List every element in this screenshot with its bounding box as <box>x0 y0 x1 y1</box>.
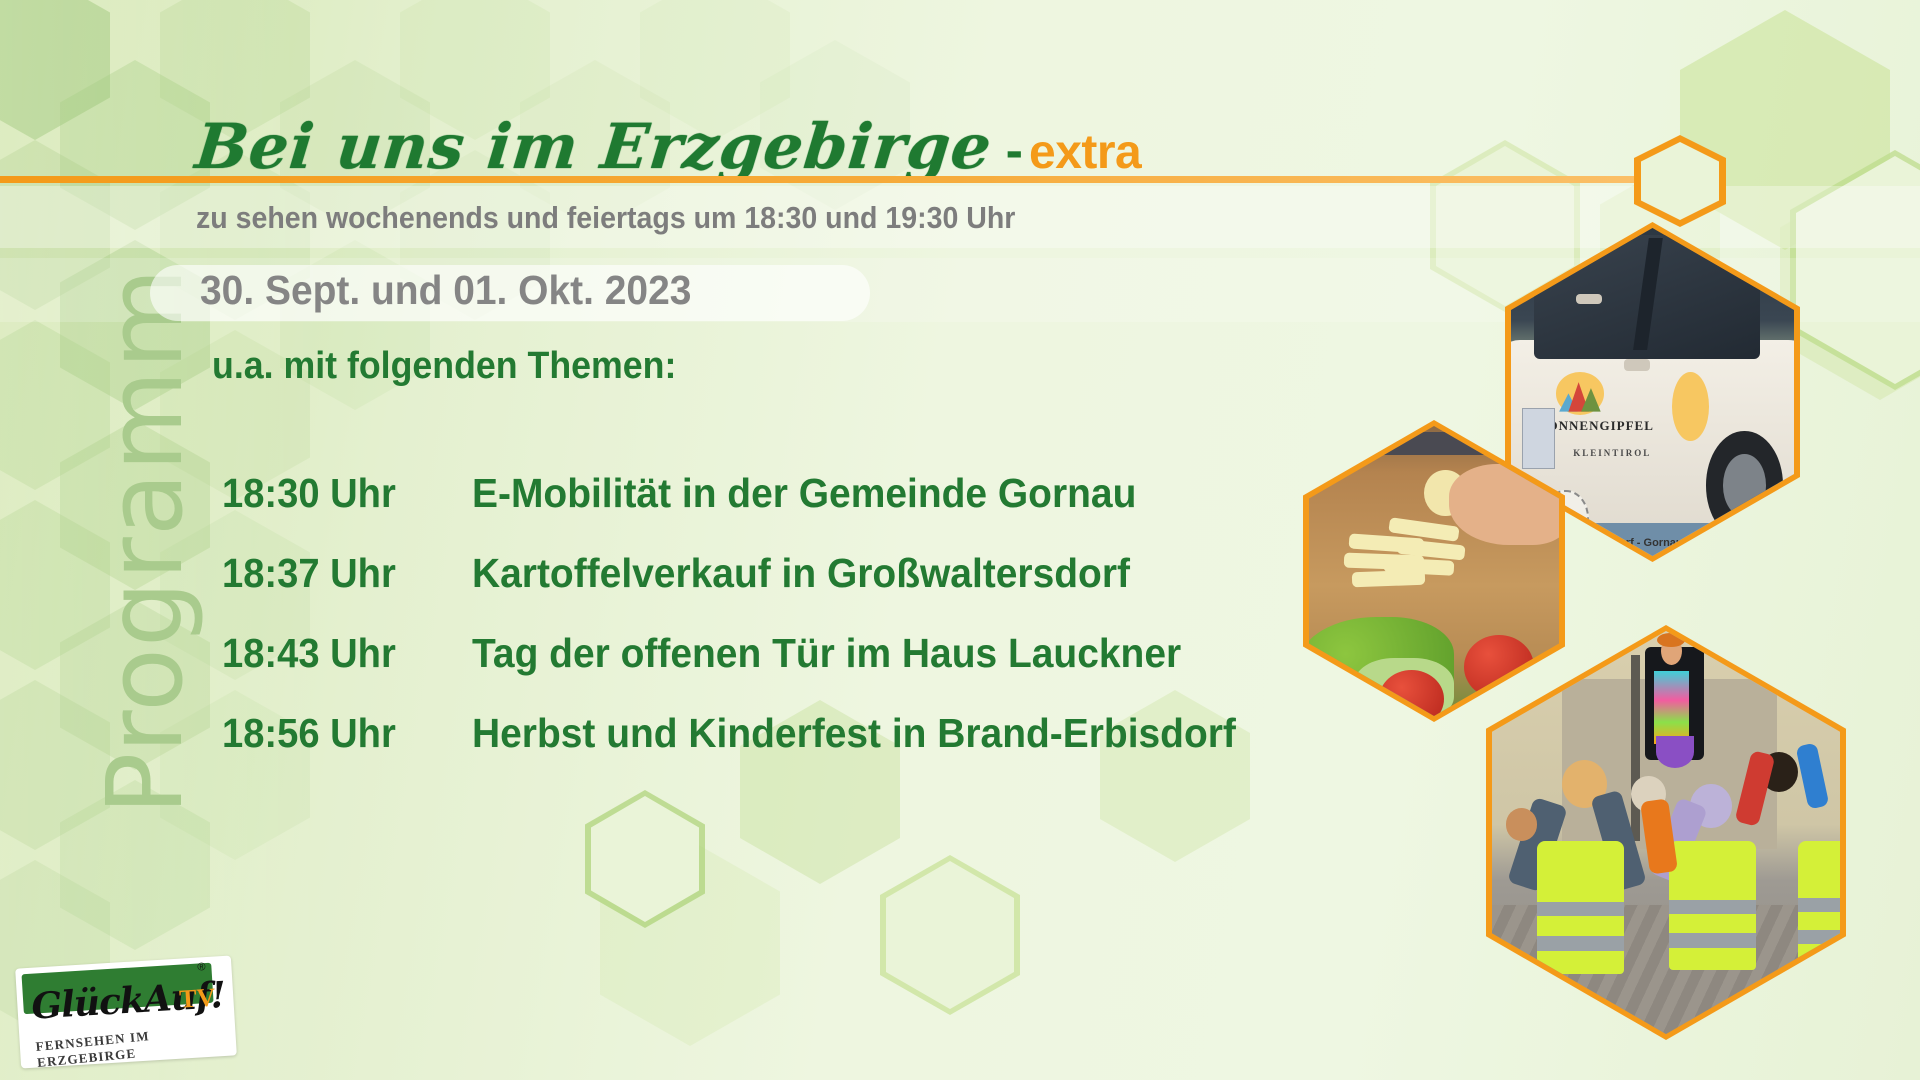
logo-tv-text: TV <box>178 983 216 1015</box>
program-row: 18:43 Uhr Tag der offenen Tür im Haus La… <box>222 630 1276 677</box>
program-time: 18:37 Uhr <box>222 550 455 597</box>
program-time: 18:43 Uhr <box>222 630 455 677</box>
topics-intro: u.a. mit folgenden Themen: <box>212 345 676 388</box>
title-extra-badge: extra <box>1029 125 1141 180</box>
program-title: Herbst und Kinderfest in Brand-Erbisdorf <box>472 710 1236 757</box>
title-underline-rule <box>0 176 1654 183</box>
program-title: E-Mobilität in der Gemeinde Gornau <box>472 470 1136 517</box>
registered-trademark-icon: ® <box>197 961 206 973</box>
program-row: 18:37 Uhr Kartoffelverkauf in Großwalter… <box>222 550 1276 597</box>
page-title: Bei uns im Erzgebirge - extra <box>196 110 1141 183</box>
glueckauf-tv-logo: GlückAuf! TV ® FERNSEHEN IM ERZGEBIRGE <box>15 956 237 1069</box>
broadcast-program-slide: Programm Bei uns im Erzgebirge - extra z… <box>0 0 1920 1080</box>
program-time: 18:30 Uhr <box>222 470 455 517</box>
broadcast-date: 30. Sept. und 01. Okt. 2023 <box>200 267 691 314</box>
program-time: 18:56 Uhr <box>222 710 455 757</box>
program-row: 18:30 Uhr E-Mobilität in der Gemeinde Go… <box>222 470 1276 517</box>
title-script-text: Bei uns im Erzgebirge <box>192 110 995 183</box>
program-title: Tag der offenen Tür im Haus Lauckner <box>472 630 1181 677</box>
car-brand-sub-text: KLEINTIROL <box>1573 448 1651 458</box>
title-dash: - <box>1006 121 1023 181</box>
program-list: 18:30 Uhr E-Mobilität in der Gemeinde Go… <box>222 470 1276 790</box>
rule-end-hexagon-icon <box>1634 135 1726 227</box>
broadcast-times-subtitle: zu sehen wochenends und feiertags um 18:… <box>196 200 1015 236</box>
photo-children-festival <box>1486 625 1846 1040</box>
program-row: 18:56 Uhr Herbst und Kinderfest in Brand… <box>222 710 1276 757</box>
program-title: Kartoffelverkauf in Großwaltersdorf <box>472 550 1130 597</box>
